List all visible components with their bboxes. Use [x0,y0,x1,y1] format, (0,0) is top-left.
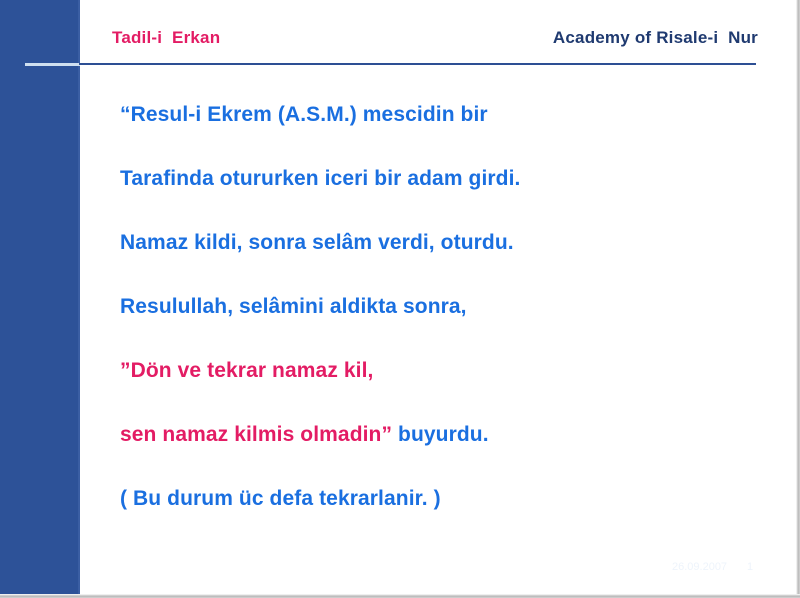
body-line: Namaz kildi, sonra selâm verdi, oturdu. [120,232,770,296]
slide-header: Tadil-i Erkan Academy of Risale-i Nur [78,0,800,66]
page-frame-bottom [0,594,800,598]
slide-body-text: “Resul-i Ekrem (A.S.M.) mescidin birTara… [120,104,770,552]
header-left-title: Tadil-i Erkan [112,28,220,48]
header-right-title: Academy of Risale-i Nur [553,28,758,48]
body-line: Resulullah, selâmini aldikta sonra, [120,296,770,360]
header-rule-navy [79,63,756,65]
footer-page-number: 1 [747,561,753,573]
sidebar-blue-band [0,0,78,598]
body-line: sen namaz kilmis olmadin” buyurdu. [120,424,770,488]
page-frame-right [796,0,800,598]
body-line: Tarafinda otururken iceri bir adam girdi… [120,168,770,232]
body-line: ( Bu durum üc defa tekrarlanir. ) [120,488,770,552]
footer-date: 26.09.2007 [672,561,727,573]
body-line-segment: buyurdu. [392,423,489,446]
header-rule-pale-segment [25,63,80,66]
body-line: “Resul-i Ekrem (A.S.M.) mescidin bir [120,104,770,168]
slide-canvas: Tadil-i Erkan Academy of Risale-i Nur “R… [0,0,800,598]
sidebar-edge-seam [78,0,80,598]
body-line-segment: sen namaz kilmis olmadin” [120,423,392,446]
body-line: ”Dön ve tekrar namaz kil, [120,360,770,424]
